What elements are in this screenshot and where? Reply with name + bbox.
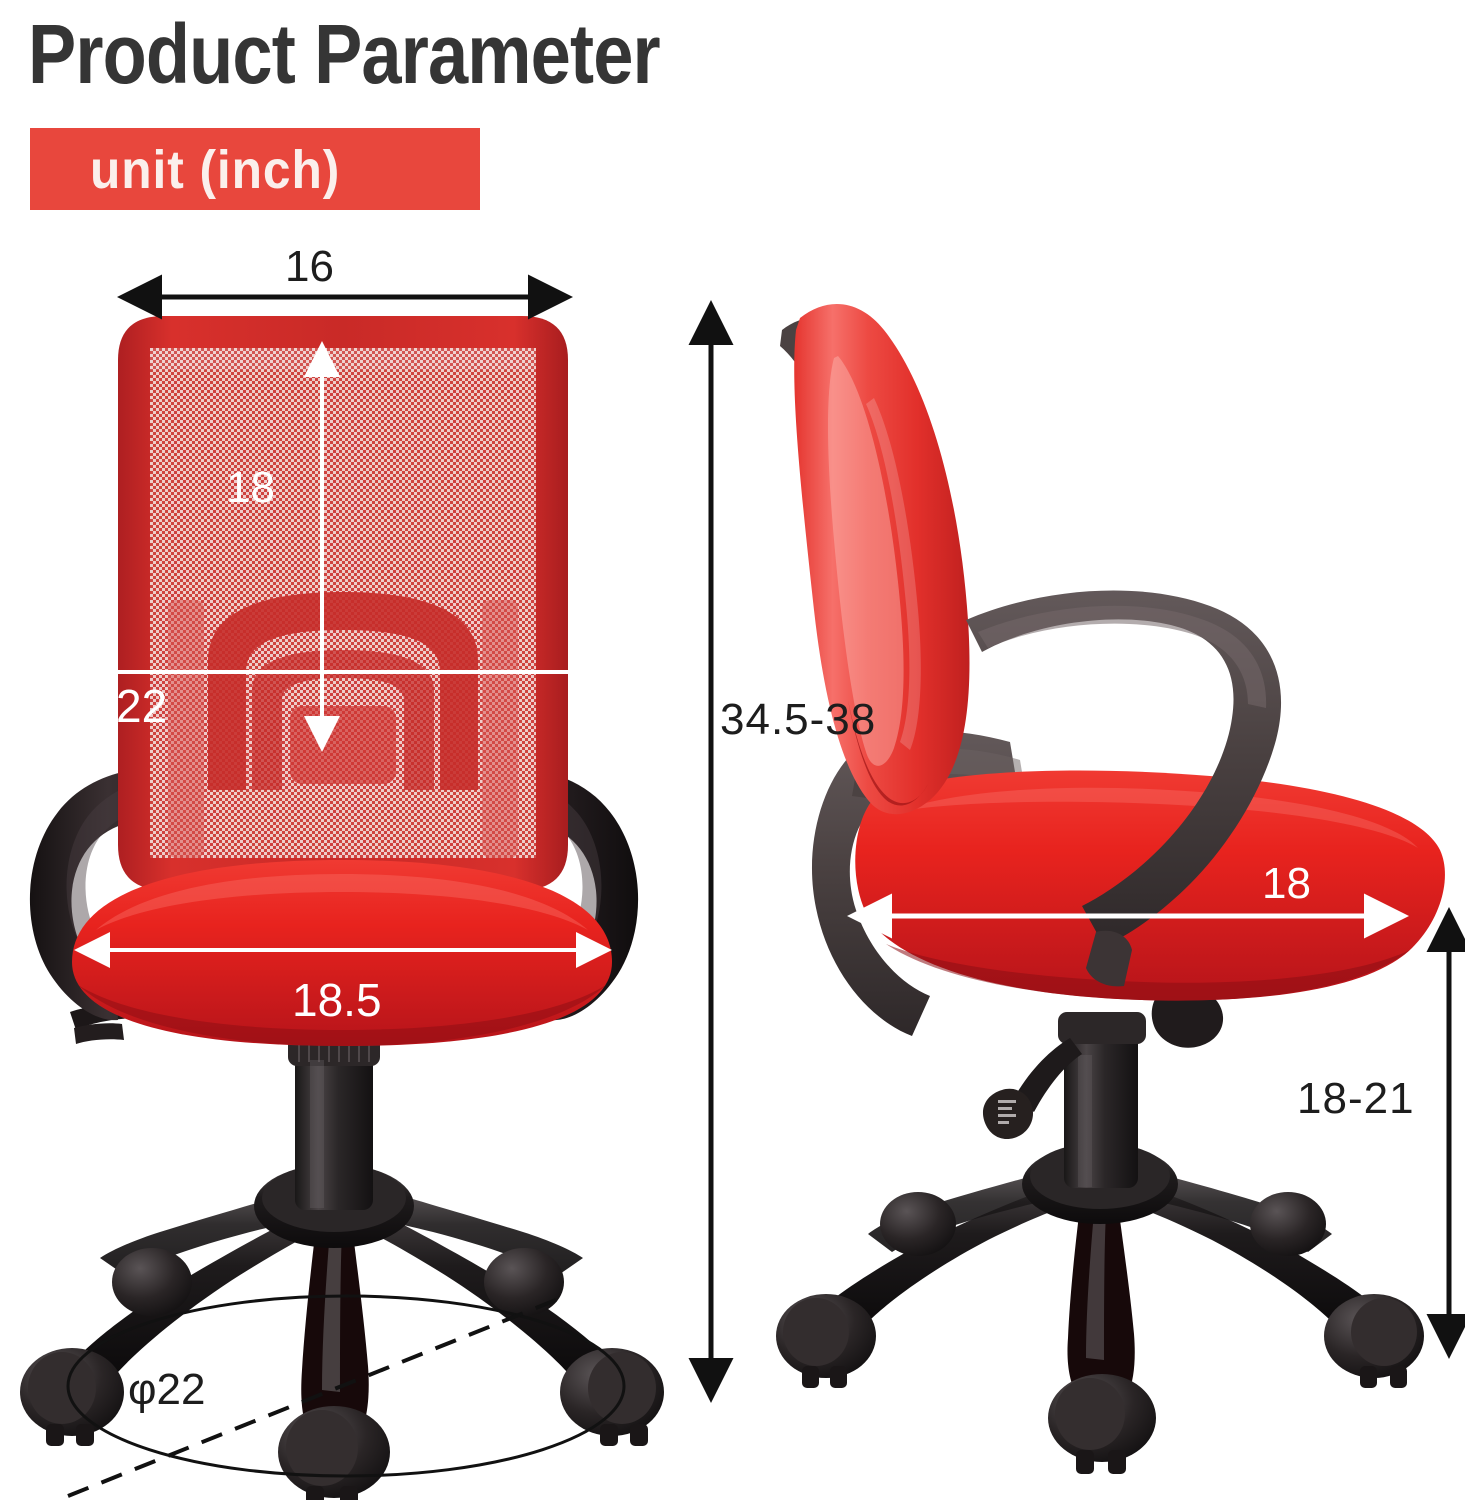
caster [484, 1248, 564, 1316]
front-view-base [20, 1032, 664, 1500]
product-parameter-diagram: Product Parameter unit (inch) [0, 0, 1465, 1500]
front-view-seat [72, 860, 612, 1046]
caster [776, 1294, 876, 1388]
side-view-chair [776, 304, 1445, 1474]
caster [278, 1406, 390, 1500]
caster [1324, 1294, 1424, 1388]
caster [1048, 1374, 1156, 1474]
side-view-backrest [780, 304, 969, 814]
front-view-backrest [118, 316, 568, 890]
chair-illustrations [0, 0, 1465, 1500]
caster [112, 1248, 192, 1316]
caster [1250, 1192, 1326, 1256]
caster [560, 1348, 664, 1446]
caster [880, 1192, 956, 1256]
side-view-base [776, 984, 1424, 1474]
front-view-chair [20, 316, 664, 1500]
